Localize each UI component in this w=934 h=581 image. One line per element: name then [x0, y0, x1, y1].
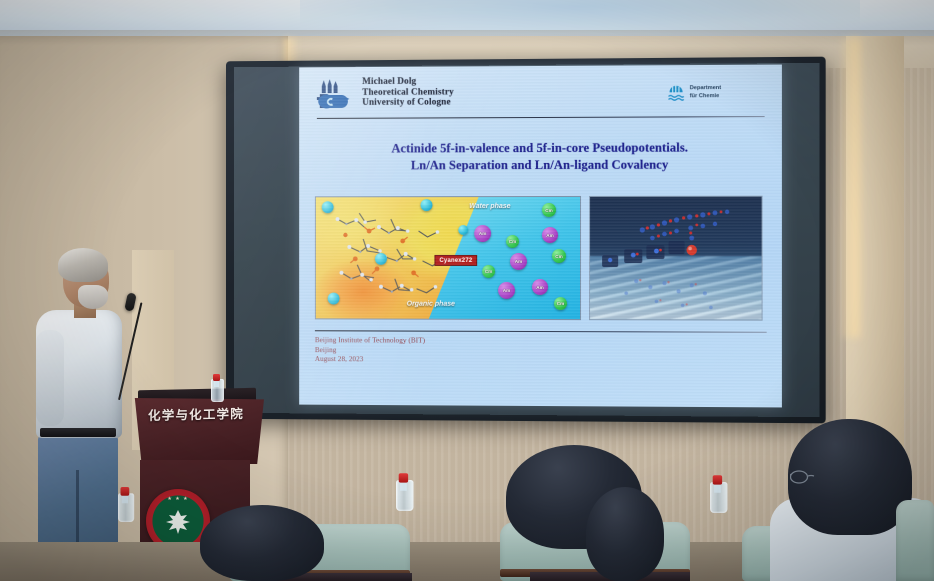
podium-nameplate: 化学与化工学院 [132, 403, 260, 425]
department-line-1: Department [690, 85, 721, 93]
water-bottle [118, 487, 132, 522]
am-ion-sphere: Am [474, 225, 491, 242]
cm-ion-sphere: Cm [552, 249, 566, 263]
department-logo-block: Department für Chemie [668, 81, 722, 104]
slide-title: Actinide 5f-in-valence and 5f-in-core Ps… [315, 139, 767, 174]
lecture-hall-photo: Michael Dolg Theoretical Chemistry Unive… [0, 0, 934, 581]
cove-light-right [838, 38, 860, 338]
cyanex272-label: Cyanex272 [434, 255, 477, 266]
presentation-slide: Michael Dolg Theoretical Chemistry Unive… [299, 65, 782, 408]
cm-ion-sphere: Cm [506, 235, 519, 248]
presenter-hair [58, 248, 108, 282]
department-line-2: für Chemie [690, 93, 721, 101]
department-label: Department für Chemie [690, 85, 721, 100]
presenter-beard [78, 285, 108, 309]
extractant-sphere [328, 293, 340, 305]
presenter-name: Michael Dolg [362, 76, 454, 87]
presenter-arm [36, 330, 64, 426]
cm-ion-sphere: Cm [554, 297, 567, 310]
water-bottle [396, 473, 411, 511]
extractant-sphere [421, 199, 433, 211]
audience-head [200, 505, 324, 581]
research-group: Theoretical Chemistry [362, 87, 454, 98]
molecular-surface-render [589, 196, 763, 321]
affiliation-block: Michael Dolg Theoretical Chemistry Unive… [362, 76, 454, 108]
am-ion-sphere: Am [498, 282, 515, 299]
cm-ion-sphere: Cm [542, 203, 556, 217]
ceiling-light-panel [300, 0, 860, 34]
extractant-sphere [322, 201, 334, 213]
am-ion-sphere: Am [510, 253, 527, 270]
footer-line-2: Beijing [315, 346, 425, 356]
extractant-sphere [375, 253, 387, 265]
water-bottle [710, 475, 725, 513]
footer-line-1: Beijing Institute of Technology (BIT) [315, 336, 425, 346]
eyeglasses-icon [790, 470, 824, 485]
water-phase-label: Water phase [469, 203, 510, 210]
slide-title-line-1: Actinide 5f-in-valence and 5f-in-core Ps… [315, 139, 767, 157]
presenter-belt [40, 428, 116, 437]
water-bottle [211, 374, 222, 402]
extractant-sphere [458, 225, 468, 235]
audience-chair [896, 500, 934, 581]
department-fur-chemie-logo-icon [668, 81, 685, 104]
organic-phase-label: Organic phase [407, 301, 455, 308]
cm-ion-sphere: Cm [482, 265, 495, 278]
emblem-ring-text: ★ ★ ★ [146, 496, 210, 502]
footer-line-3: August 28, 2023 [315, 355, 425, 365]
university-of-cologne-tc-logo-icon [317, 79, 354, 111]
audience-head [586, 487, 664, 581]
footer-divider [315, 330, 767, 333]
am-ion-sphere: Am [532, 279, 548, 295]
solvent-extraction-diagram: Am Am Am Am Am Cm Cm Cm Cm Cm Cyanex272 … [315, 196, 581, 320]
am-ion-sphere: Am [542, 227, 558, 243]
institution-name: University of Cologne [362, 98, 454, 109]
ceiling-shadow [0, 30, 934, 46]
slide-title-line-2: Ln/An Separation and Ln/An-ligand Covale… [315, 156, 767, 174]
slide-header: Michael Dolg Theoretical Chemistry Unive… [317, 73, 765, 117]
slide-footer: Beijing Institute of Technology (BIT) Be… [315, 336, 425, 365]
